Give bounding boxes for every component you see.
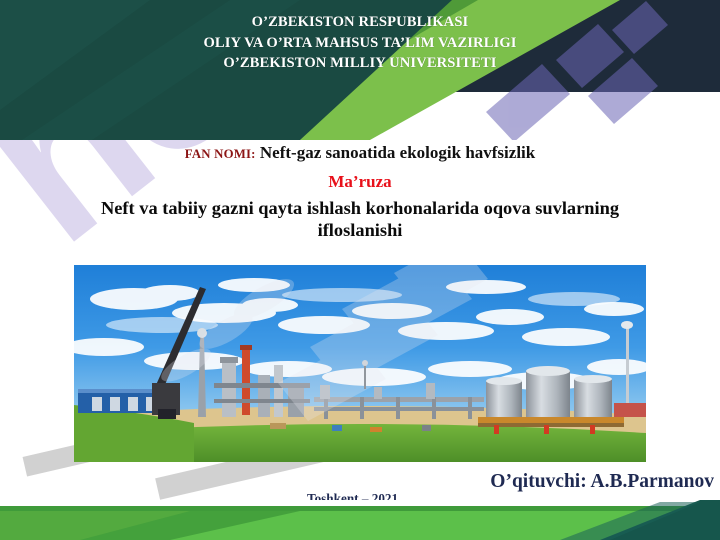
header-banner: O’ZBEKISTON RESPUBLIKASI OLIY VA O’RTA M… (0, 0, 720, 140)
header-line-2: OLIY VA O’RTA MAHSUS TA’LIM VAZIRLIGI (0, 33, 720, 54)
topic-line-2: ifloslanishi (0, 219, 720, 241)
refinery-photo (74, 265, 646, 462)
lecture-label: Ma’ruza (0, 172, 720, 192)
header-line-3: O’ZBEKISTON MILLIY UNIVERSITETI (0, 53, 720, 74)
subject-line: FAN NOMI: Neft-gaz sanoatida ekologik ha… (0, 142, 720, 163)
subject-label: FAN NOMI: (185, 147, 256, 161)
bottom-bar: 1 (0, 500, 720, 540)
teacher-name: O’qituvchi: A.B.Parmanov (490, 471, 714, 493)
title-block: FAN NOMI: Neft-gaz sanoatida ekologik ha… (0, 142, 720, 241)
refinery-photo-artwork (74, 265, 646, 462)
topic-line-1: Neft va tabiiy gazni qayta ishlash korho… (0, 197, 720, 219)
bottom-bar-shapes (0, 500, 720, 540)
presentation-slide: hozir24 O’ZBEKISTON RESPU (0, 0, 720, 540)
header-line-1: O’ZBEKISTON RESPUBLIKASI (0, 12, 720, 33)
subject-name: Neft-gaz sanoatida ekologik havfsizlik (260, 143, 535, 162)
header-title-group: O’ZBEKISTON RESPUBLIKASI OLIY VA O’RTA M… (0, 12, 720, 74)
